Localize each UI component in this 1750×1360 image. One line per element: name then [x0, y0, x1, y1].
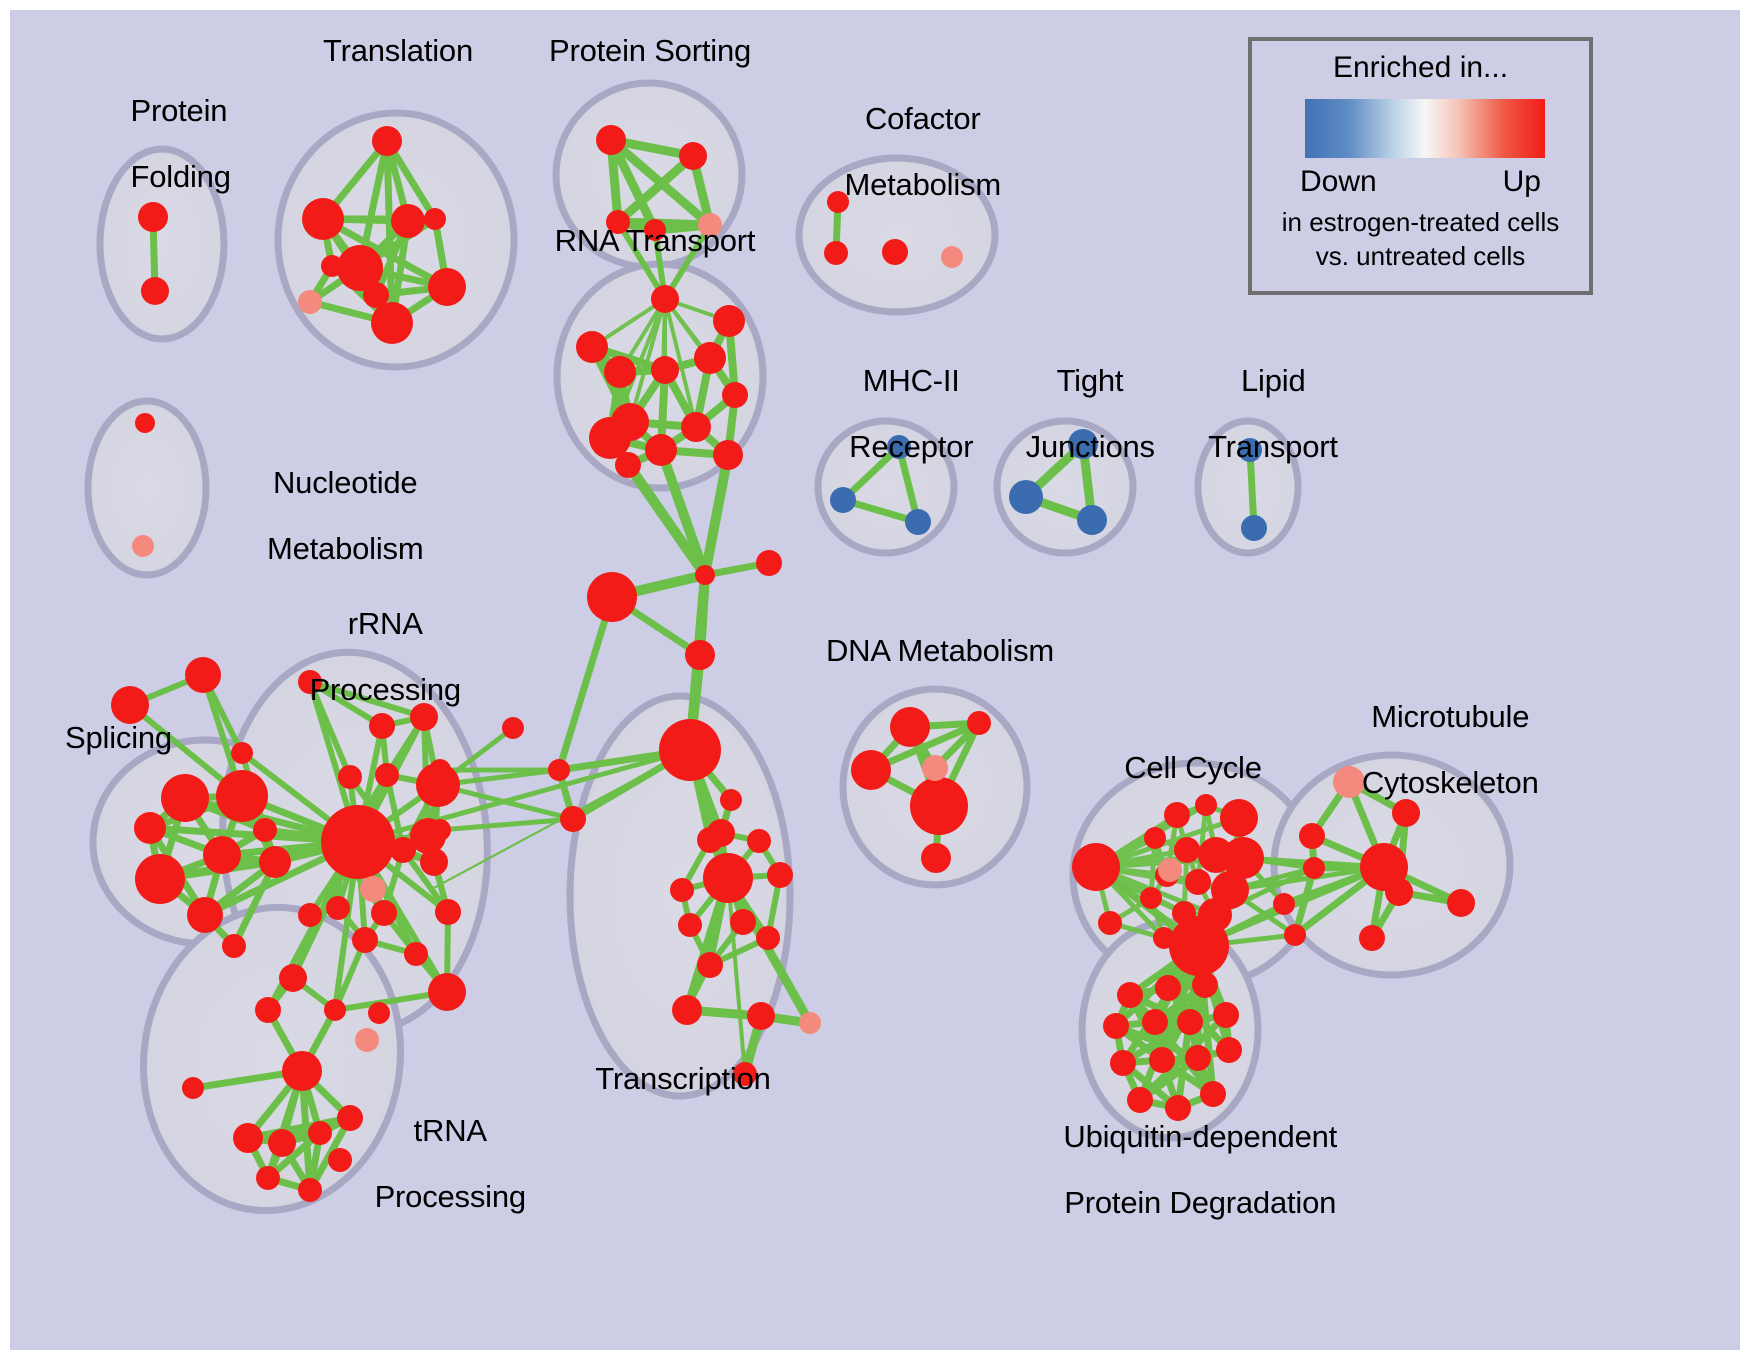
node — [222, 934, 246, 958]
node — [678, 913, 702, 937]
node — [420, 848, 448, 876]
label-line: Nucleotide — [273, 465, 417, 500]
node — [141, 277, 169, 305]
node — [355, 1028, 379, 1052]
node — [1117, 982, 1143, 1008]
node — [352, 927, 378, 953]
node — [111, 686, 149, 724]
node — [1359, 925, 1385, 951]
node — [697, 952, 723, 978]
legend-subtitle-line1: in estrogen-treated cells — [1252, 207, 1589, 238]
node — [1110, 1050, 1136, 1076]
node — [672, 995, 702, 1025]
node — [576, 331, 608, 363]
node — [713, 305, 745, 337]
label-line: Processing — [375, 1179, 526, 1214]
cluster-label-cofactor-metabolism: Cofactor Metabolism — [790, 70, 1005, 234]
node — [730, 909, 756, 935]
node — [424, 208, 446, 230]
node — [1103, 1013, 1129, 1039]
node — [253, 818, 277, 842]
node — [1213, 1002, 1239, 1028]
node — [695, 565, 715, 585]
node — [967, 711, 991, 735]
node — [360, 876, 386, 902]
label-line: Cofactor — [865, 101, 981, 136]
node — [921, 843, 951, 873]
label-line: Transport — [1208, 429, 1338, 464]
node — [1142, 1009, 1168, 1035]
node — [1195, 794, 1217, 816]
node — [747, 829, 771, 853]
node — [182, 1077, 204, 1099]
cluster-label-protein-sorting: Protein Sorting — [510, 35, 790, 68]
node — [161, 774, 209, 822]
node — [1072, 843, 1120, 891]
node — [338, 765, 362, 789]
node — [132, 535, 154, 557]
cluster-label-translation: Translation — [278, 35, 518, 68]
node — [596, 125, 626, 155]
label-line: Lipid — [1241, 363, 1306, 398]
node — [1385, 878, 1413, 906]
node — [645, 434, 677, 466]
node — [410, 818, 446, 854]
label-line: MHC-II — [863, 363, 960, 398]
node — [321, 255, 343, 277]
label-line: Metabolism — [844, 167, 1001, 202]
label-line: Tight — [1057, 363, 1124, 398]
figure-canvas: Protein Folding Translation Protein Sort… — [0, 0, 1750, 1360]
node — [1158, 858, 1182, 882]
node — [268, 1129, 296, 1157]
node — [685, 640, 715, 670]
node — [651, 285, 679, 313]
node — [707, 819, 735, 847]
node — [713, 440, 743, 470]
cluster-label-ubiquitin-protein-degradation: Ubiquitin-dependent Protein Degradation — [985, 1088, 1365, 1252]
node — [1185, 869, 1211, 895]
node — [428, 268, 466, 306]
node — [1140, 887, 1162, 909]
node — [670, 878, 694, 902]
cluster-label-trna-processing: tRNA Processing — [310, 1082, 540, 1246]
label-line: Folding — [130, 159, 230, 194]
node — [1192, 972, 1218, 998]
label-line: Processing — [310, 672, 461, 707]
node — [256, 1166, 280, 1190]
node — [941, 246, 963, 268]
node — [428, 973, 466, 1011]
node — [694, 342, 726, 374]
node — [720, 789, 742, 811]
label-line: Microtubule — [1371, 699, 1529, 734]
node — [375, 763, 399, 787]
legend-high-label: Up — [1503, 165, 1541, 199]
node — [187, 897, 223, 933]
label-line: tRNA — [414, 1113, 487, 1148]
node — [298, 903, 322, 927]
node — [1155, 975, 1181, 1001]
node — [371, 900, 397, 926]
node — [703, 853, 753, 903]
cluster-label-splicing: Splicing — [65, 722, 245, 755]
node — [1174, 837, 1200, 863]
node — [404, 942, 428, 966]
label-line: Cytoskeleton — [1362, 765, 1539, 800]
node — [216, 770, 268, 822]
node — [1177, 1009, 1203, 1035]
node — [372, 126, 402, 156]
node — [279, 964, 307, 992]
node — [651, 356, 679, 384]
node — [659, 719, 721, 781]
node — [1098, 911, 1122, 935]
node — [747, 1002, 775, 1030]
node — [135, 413, 155, 433]
cluster-label-rna-transport: RNA Transport — [515, 225, 795, 258]
legend-subtitle-line2: vs. untreated cells — [1252, 241, 1589, 272]
node — [851, 750, 891, 790]
node — [502, 717, 524, 739]
node — [910, 777, 968, 835]
label-line: rRNA — [348, 606, 423, 641]
label-line: Protein — [130, 93, 227, 128]
node — [134, 812, 166, 844]
node — [321, 805, 395, 879]
label-line: Protein Degradation — [1064, 1185, 1336, 1220]
legend-box: Enriched in... Down Up in estrogen-treat… — [1248, 37, 1593, 295]
cluster-label-rrna-processing: rRNA Processing — [250, 575, 470, 739]
node — [587, 572, 637, 622]
label-line: Ubiquitin-dependent — [1063, 1119, 1337, 1154]
node — [233, 1123, 263, 1153]
cluster-label-mhc-ii-receptor: MHC-II Receptor — [796, 332, 976, 496]
node — [615, 452, 641, 478]
node — [324, 999, 346, 1021]
cluster-label-dna-metabolism: DNA Metabolism — [810, 635, 1070, 668]
node — [1077, 505, 1107, 535]
node — [368, 1002, 390, 1024]
label-line: Junctions — [1026, 429, 1155, 464]
node — [416, 763, 460, 807]
node — [302, 198, 344, 240]
node — [1144, 827, 1166, 849]
node — [548, 759, 570, 781]
node — [922, 755, 948, 781]
node — [255, 997, 281, 1023]
node — [327, 840, 353, 866]
legend-title: Enriched in... — [1252, 51, 1589, 85]
node — [435, 899, 461, 925]
legend-colorbar — [1305, 99, 1545, 158]
node — [1447, 889, 1475, 917]
node — [326, 896, 350, 920]
cluster-label-tight-junctions: Tight Junctions — [975, 332, 1155, 496]
node — [1284, 924, 1306, 946]
cluster-label-nucleotide-metabolism: Nucleotide Metabolism — [205, 434, 435, 598]
cluster-label-cell-cycle: Cell Cycle — [1088, 752, 1298, 785]
cluster-label-microtubule-cytoskeleton: Microtubule Cytoskeleton — [1300, 668, 1550, 832]
node — [135, 854, 185, 904]
node — [681, 412, 711, 442]
node — [890, 707, 930, 747]
node — [767, 862, 793, 888]
cluster-label-transcription: Transcription — [558, 1063, 808, 1096]
node — [882, 239, 908, 265]
label-line: Receptor — [849, 429, 973, 464]
node — [756, 550, 782, 576]
node — [756, 926, 780, 950]
label-line: Metabolism — [267, 531, 424, 566]
node — [1164, 802, 1190, 828]
legend-low-label: Down — [1300, 165, 1377, 199]
node — [905, 509, 931, 535]
node — [799, 1012, 821, 1034]
node — [298, 290, 322, 314]
node — [679, 142, 707, 170]
node — [1241, 515, 1267, 541]
node — [1185, 1045, 1211, 1071]
node — [203, 836, 241, 874]
node — [560, 806, 586, 832]
network-plot-area: Protein Folding Translation Protein Sort… — [10, 10, 1740, 1350]
node — [824, 241, 848, 265]
node — [1169, 916, 1229, 976]
cluster-label-lipid-transport: Lipid Transport — [1158, 332, 1338, 496]
node — [1273, 893, 1295, 915]
node — [391, 204, 425, 238]
node — [1303, 857, 1325, 879]
node — [604, 356, 636, 388]
node — [1149, 1047, 1175, 1073]
node — [371, 302, 413, 344]
node — [722, 382, 748, 408]
node — [1220, 799, 1258, 837]
node — [185, 657, 221, 693]
node — [259, 846, 291, 878]
cluster-label-protein-folding: Protein Folding — [80, 62, 260, 226]
node — [1216, 1037, 1242, 1063]
